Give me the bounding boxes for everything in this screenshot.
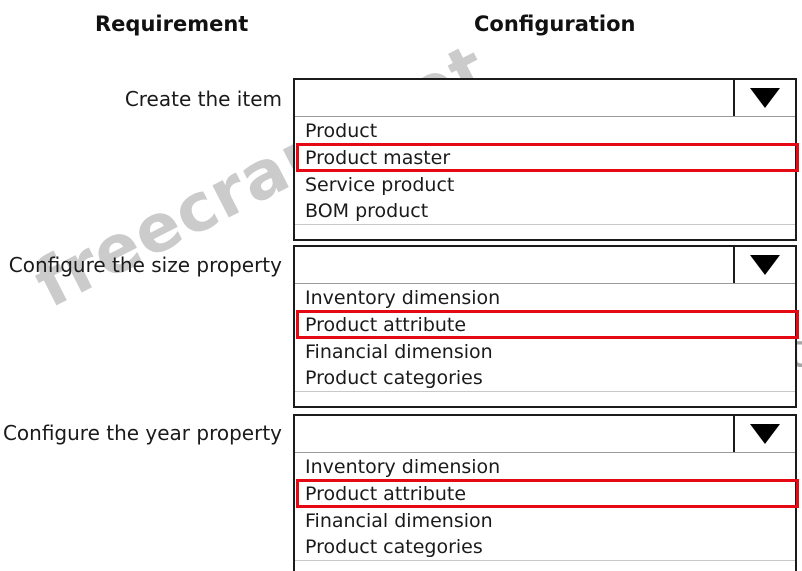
column-headers: Requirement Configuration <box>0 12 802 46</box>
dropdown-option[interactable]: Financial dimension <box>295 338 795 365</box>
exam-question-canvas: freecram.net Microsoft Requirement Confi… <box>0 0 802 571</box>
chevron-down-icon[interactable] <box>750 255 780 275</box>
dropdown-option-label: Financial dimension <box>305 510 493 532</box>
dropdown-option-label: Product categories <box>305 536 483 558</box>
dropdown-option[interactable]: BOM product <box>295 198 795 225</box>
dropdown-field-3[interactable] <box>295 416 795 453</box>
dropdown-option-label: Inventory dimension <box>305 287 500 309</box>
dropdown-selected-value-2[interactable] <box>295 247 733 283</box>
dropdown-option-label: Product attribute <box>305 483 466 505</box>
dropdown-option[interactable]: Inventory dimension <box>295 453 795 480</box>
dropdown-list-padding <box>295 392 795 406</box>
dropdown-option-label: Service product <box>305 174 454 196</box>
dropdown-option[interactable]: Product master <box>295 144 795 171</box>
chevron-down-icon[interactable] <box>750 88 780 108</box>
configuration-dropdown-3[interactable]: Inventory dimension Product attribute Fi… <box>293 414 797 571</box>
dropdown-list-padding <box>295 225 795 239</box>
dropdown-option[interactable]: Product <box>295 117 795 144</box>
dropdown-field-1[interactable] <box>295 80 795 117</box>
dropdown-option-label: BOM product <box>305 200 428 222</box>
dropdown-option-label: Product master <box>305 147 450 169</box>
dropdown-option-label: Product <box>305 120 377 142</box>
header-configuration: Configuration <box>474 12 635 36</box>
requirement-label-2: Configure the size property <box>0 253 282 277</box>
requirement-label-3: Configure the year property <box>0 421 282 445</box>
dropdown-option-list-2: Inventory dimension Product attribute Fi… <box>295 284 795 406</box>
dropdown-list-padding <box>295 561 795 571</box>
dropdown-option[interactable]: Financial dimension <box>295 507 795 534</box>
dropdown-selected-value-3[interactable] <box>295 416 733 452</box>
dropdown-option-list-1: Product Product master Service product B… <box>295 117 795 239</box>
dropdown-option[interactable]: Product categories <box>295 534 795 561</box>
dropdown-option[interactable]: Service product <box>295 171 795 198</box>
dropdown-option-label: Product categories <box>305 367 483 389</box>
configuration-dropdown-1[interactable]: Product Product master Service product B… <box>293 78 797 241</box>
dropdown-option-list-3: Inventory dimension Product attribute Fi… <box>295 453 795 571</box>
dropdown-option[interactable]: Product attribute <box>295 480 795 507</box>
dropdown-option[interactable]: Product attribute <box>295 311 795 338</box>
dropdown-option-label: Product attribute <box>305 314 466 336</box>
chevron-down-icon[interactable] <box>750 424 780 444</box>
configuration-dropdown-2[interactable]: Inventory dimension Product attribute Fi… <box>293 245 797 408</box>
header-requirement: Requirement <box>95 12 248 36</box>
dropdown-toggle-3[interactable] <box>733 416 795 452</box>
dropdown-option-label: Financial dimension <box>305 341 493 363</box>
dropdown-option-label: Inventory dimension <box>305 456 500 478</box>
dropdown-toggle-2[interactable] <box>733 247 795 283</box>
dropdown-field-2[interactable] <box>295 247 795 284</box>
dropdown-option[interactable]: Product categories <box>295 365 795 392</box>
dropdown-option[interactable]: Inventory dimension <box>295 284 795 311</box>
requirement-label-1: Create the item <box>0 87 282 111</box>
dropdown-selected-value-1[interactable] <box>295 80 733 116</box>
dropdown-toggle-1[interactable] <box>733 80 795 116</box>
